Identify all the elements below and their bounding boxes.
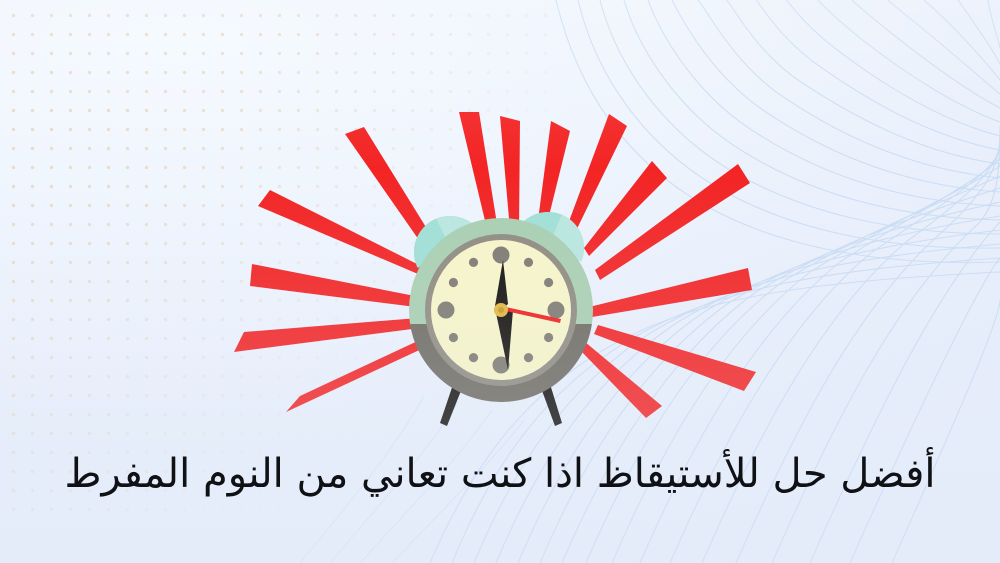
caption-text: أفضل حل للأستيقاظ اذا كنت تعاني من النوم… [0, 448, 1000, 501]
alarm-clock-illustration [0, 96, 1000, 426]
image-canvas: أفضل حل للأستيقاظ اذا كنت تعاني من النوم… [0, 0, 1000, 563]
